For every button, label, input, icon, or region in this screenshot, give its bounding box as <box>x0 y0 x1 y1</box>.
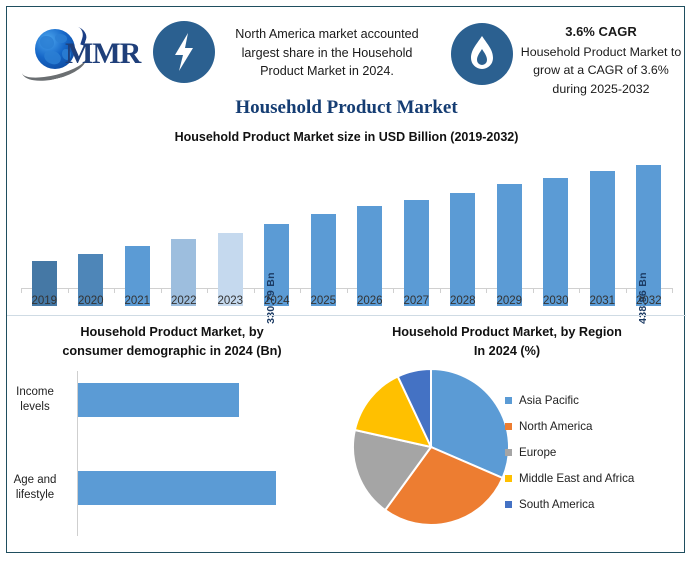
bar-rect <box>543 178 568 306</box>
x-axis-label-2028: 2028 <box>440 295 487 307</box>
x-axis-label-2019: 2019 <box>21 295 68 307</box>
bar-2032: 438.96 Bn <box>636 166 661 306</box>
legend-label: Asia Pacific <box>519 394 579 407</box>
bar-2030 <box>543 166 568 306</box>
axis-tick <box>672 288 673 293</box>
pie-svg <box>351 367 511 527</box>
axis-tick <box>21 288 22 293</box>
hbar-label-line: Income <box>16 386 54 398</box>
bar-rect <box>497 184 522 306</box>
legend-swatch-icon <box>505 501 512 508</box>
axis-tick <box>533 288 534 293</box>
x-axis-label-2025: 2025 <box>300 295 347 307</box>
mmr-logo: MMR <box>17 21 147 83</box>
axis-tick <box>300 288 301 293</box>
x-axis-label-2032: 2032 <box>626 295 673 307</box>
axis-tick <box>254 288 255 293</box>
bar-2019 <box>32 166 57 306</box>
cagr-description: Household Product Market to grow at a CA… <box>521 45 681 96</box>
hbar-label-line: Age and <box>14 474 57 486</box>
bar-rect <box>357 206 382 306</box>
hbar-income-levels <box>78 383 239 417</box>
demographic-panel: Household Product Market, by consumer de… <box>7 323 337 553</box>
x-axis-label-2030: 2030 <box>533 295 580 307</box>
axis-tick <box>626 288 627 293</box>
demographic-title-line1: Household Product Market, by <box>80 325 263 339</box>
bar-2029 <box>497 166 522 306</box>
x-axis-label-2021: 2021 <box>114 295 161 307</box>
legend-swatch-icon <box>505 397 512 404</box>
hbar-age-and-lifestyle <box>78 471 276 505</box>
bar-2020 <box>78 166 103 306</box>
header-highlight-text: North America market accounted largest s… <box>221 25 433 81</box>
infographic-frame: MMR North America market accounted large… <box>6 6 685 553</box>
x-axis-label-2031: 2031 <box>579 295 626 307</box>
bar-rect <box>590 171 615 306</box>
legend-item-middle-east-and-africa[interactable]: Middle East and Africa <box>505 465 685 491</box>
bar-chart-title: Household Product Market size in USD Bil… <box>7 130 686 144</box>
bar-2024: 330.79 Bn <box>264 166 289 306</box>
bar-2028 <box>450 166 475 306</box>
bar-rect <box>450 193 475 306</box>
legend-label: South America <box>519 498 594 511</box>
legend-label: Middle East and Africa <box>519 472 634 485</box>
hbar-category-label: Age andlifestyle <box>0 473 75 502</box>
bar-2026 <box>357 166 382 306</box>
bar-rect <box>404 200 429 306</box>
axis-tick <box>161 288 162 293</box>
lightning-bolt-icon <box>153 21 215 83</box>
x-axis-label-2026: 2026 <box>347 295 394 307</box>
bar-2027 <box>404 166 429 306</box>
bar-chart-plot <box>21 149 672 289</box>
hbar-label-line: levels <box>20 401 49 413</box>
bar-2025 <box>311 166 336 306</box>
axis-tick <box>68 288 69 293</box>
legend-item-europe[interactable]: Europe <box>505 439 685 465</box>
axis-tick <box>440 288 441 293</box>
logo-text: MMR <box>65 37 140 71</box>
bar-2021 <box>125 166 150 306</box>
region-panel: Household Product Market, by Region In 2… <box>337 323 686 553</box>
page-title: Household Product Market <box>7 97 686 119</box>
section-divider <box>7 315 686 316</box>
x-axis-label-2020: 2020 <box>68 295 115 307</box>
x-axis-label-2024: 2024 <box>254 295 301 307</box>
x-axis-label-2027: 2027 <box>393 295 440 307</box>
header-cagr-text: 3.6% CAGR Household Product Market to gr… <box>515 23 687 98</box>
legend-item-north-america[interactable]: North America <box>505 413 685 439</box>
bar-rect: 438.96 Bn <box>636 165 661 306</box>
x-axis-label-2022: 2022 <box>161 295 208 307</box>
bar-rect: 330.79 Bn <box>264 224 289 306</box>
legend-label: North America <box>519 420 592 433</box>
axis-tick <box>393 288 394 293</box>
axis-tick <box>486 288 487 293</box>
bar-rect <box>311 214 336 306</box>
hbar-label-line: lifestyle <box>16 489 54 501</box>
axis-tick <box>579 288 580 293</box>
legend-label: Europe <box>519 446 556 459</box>
hbar-category-label: Incomelevels <box>0 385 75 414</box>
axis-tick <box>114 288 115 293</box>
x-axis-label-2029: 2029 <box>486 295 533 307</box>
region-pie-chart <box>351 367 511 527</box>
legend-swatch-icon <box>505 449 512 456</box>
legend-item-asia-pacific[interactable]: Asia Pacific <box>505 387 685 413</box>
cagr-headline: 3.6% CAGR <box>515 23 687 42</box>
bar-2022 <box>171 166 196 306</box>
region-title-line1: Household Product Market, by Region <box>392 325 622 339</box>
region-legend: Asia PacificNorth AmericaEuropeMiddle Ea… <box>505 387 685 517</box>
region-title-line2: In 2024 (%) <box>474 344 540 358</box>
legend-item-south-america[interactable]: South America <box>505 491 685 517</box>
bar-2031 <box>590 166 615 306</box>
demographic-chart-title: Household Product Market, by consumer de… <box>17 323 327 361</box>
market-size-bar-chart: 20192020202120222023330.79 Bn20242025202… <box>21 149 672 307</box>
region-chart-title: Household Product Market, by Region In 2… <box>342 323 672 361</box>
bar-2023 <box>218 166 243 306</box>
axis-tick <box>347 288 348 293</box>
header-bar: MMR North America market accounted large… <box>7 7 686 95</box>
legend-swatch-icon <box>505 423 512 430</box>
demographic-title-line2: consumer demographic in 2024 (Bn) <box>62 344 281 358</box>
legend-swatch-icon <box>505 475 512 482</box>
x-axis-label-2023: 2023 <box>207 295 254 307</box>
axis-tick <box>207 288 208 293</box>
flame-icon <box>451 23 513 85</box>
